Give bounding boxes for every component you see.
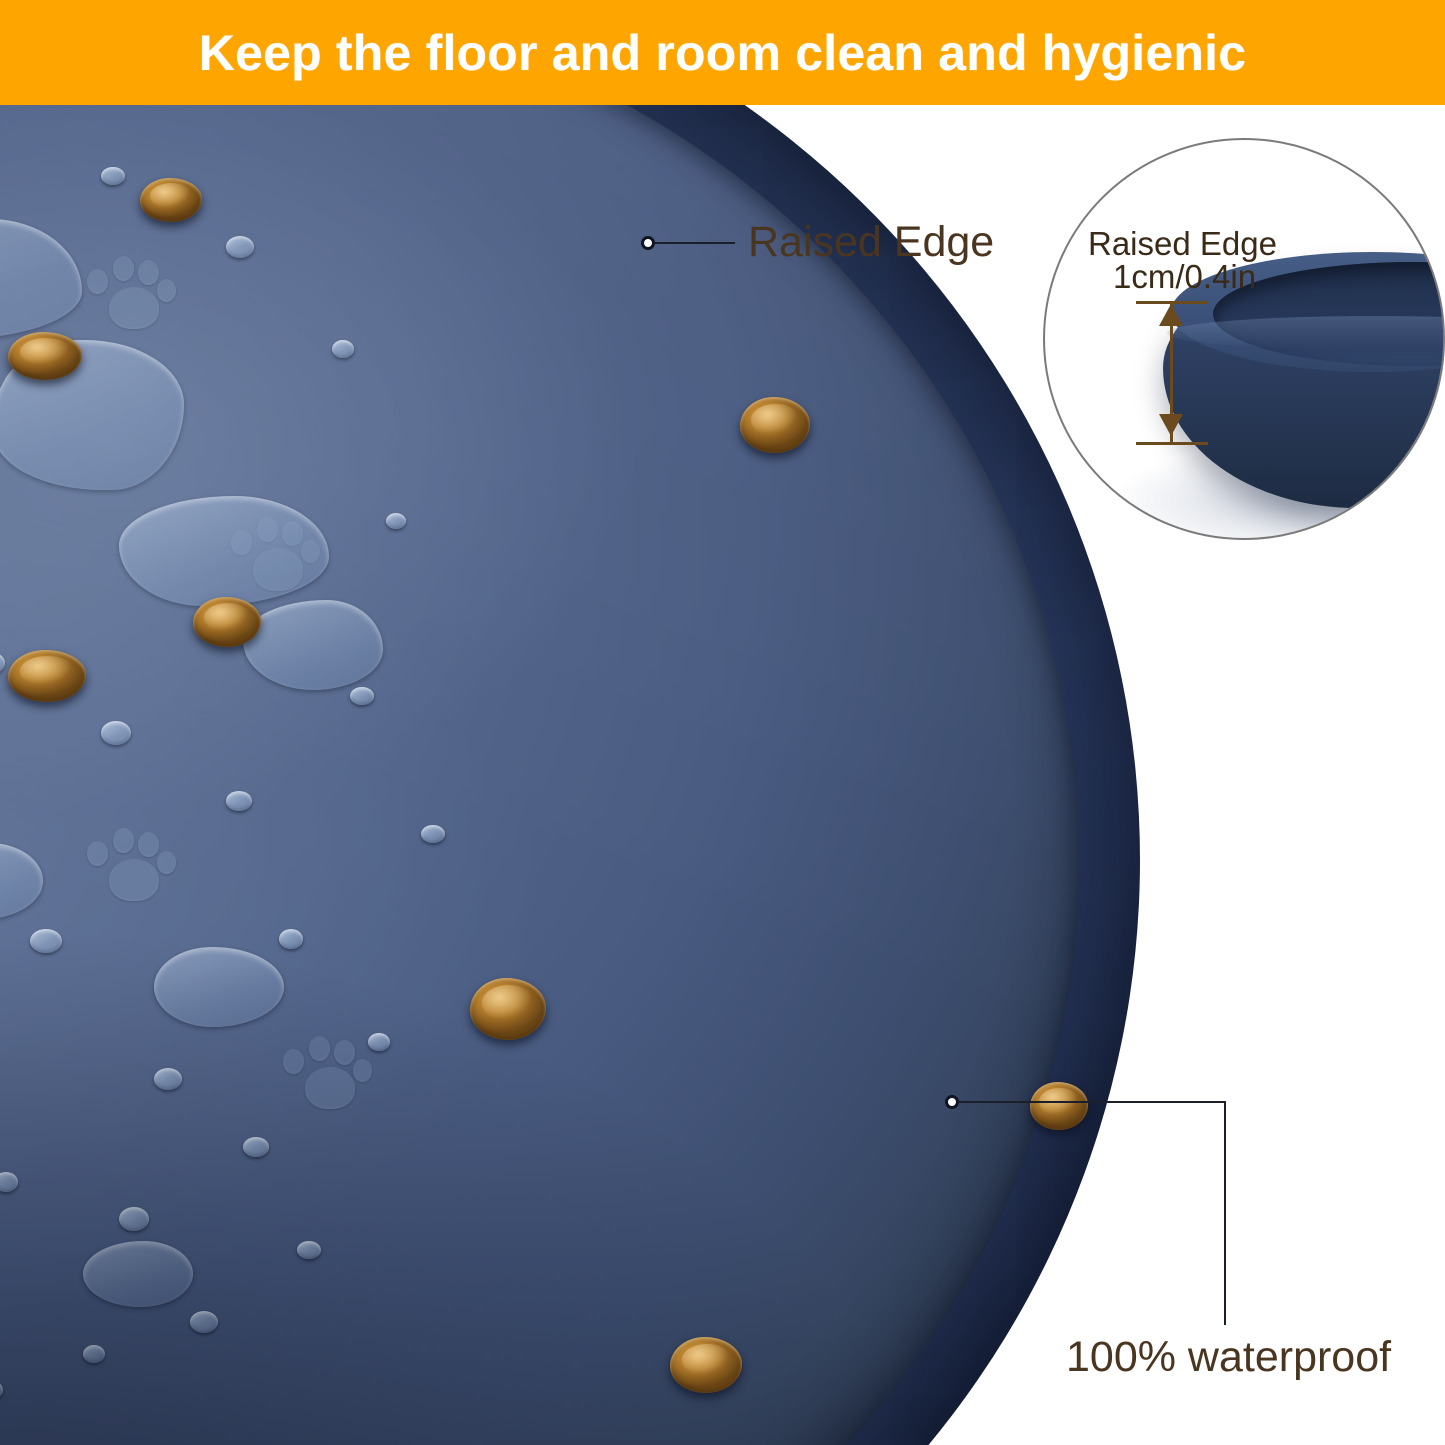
raised-edge-dimension-arrow (1126, 296, 1218, 450)
water-droplet (279, 929, 303, 949)
water-puddle (83, 1241, 193, 1307)
inset-label-line-2: 1cm/0.4in (1113, 258, 1256, 296)
kibble-piece (470, 978, 546, 1040)
headline-text: Keep the floor and room clean and hygien… (199, 24, 1246, 82)
water-droplet (0, 1172, 18, 1192)
kibble-piece (140, 178, 202, 222)
water-droplet (386, 513, 406, 529)
water-droplet (154, 1068, 182, 1090)
water-droplet (0, 1380, 3, 1400)
water-droplet (350, 687, 374, 705)
kibble-piece (8, 650, 86, 702)
raised-edge-marker-dot (641, 236, 655, 250)
waterproof-leader-vertical (1224, 1101, 1226, 1325)
mat-basin (0, 105, 1079, 1445)
raised-edge-callout-label: Raised Edge (748, 218, 994, 267)
raised-edge-detail-inset (1043, 138, 1445, 540)
raised-edge-leader-line (654, 242, 735, 244)
kibble-piece (8, 332, 82, 380)
water-droplet (83, 1345, 105, 1363)
water-droplet (101, 721, 131, 745)
product-marketing-image: Keep the floor and room clean and hygien… (0, 0, 1445, 1445)
water-droplet (297, 1241, 321, 1259)
water-droplet (368, 1033, 390, 1051)
water-puddle (243, 600, 383, 690)
water-droplet (243, 1137, 269, 1157)
waterproof-leader-horizontal (958, 1101, 1226, 1103)
water-droplet (226, 791, 252, 811)
water-droplet (0, 652, 5, 674)
mat-raised-rim (0, 105, 1140, 1445)
waterproof-marker-dot (945, 1095, 959, 1109)
water-puddle (0, 219, 82, 339)
water-droplet (119, 1207, 149, 1231)
water-puddle (154, 947, 284, 1027)
kibble-piece (740, 397, 810, 453)
water-droplet (421, 825, 445, 843)
water-puddle (0, 843, 43, 919)
dimension-arrowhead-down (1159, 414, 1183, 436)
headline-banner: Keep the floor and room clean and hygien… (0, 0, 1445, 105)
water-droplet (226, 236, 254, 258)
pet-feeding-mat (0, 105, 1140, 1445)
paw-print-emboss (83, 253, 169, 345)
kibble-piece (1030, 1082, 1088, 1130)
paw-print-emboss (83, 825, 169, 917)
water-droplet (101, 167, 125, 185)
paw-print-emboss (279, 1033, 365, 1125)
kibble-piece (670, 1337, 742, 1393)
water-droplet (190, 1311, 218, 1333)
waterproof-callout-label: 100% waterproof (1066, 1333, 1391, 1382)
water-droplet (30, 929, 62, 953)
water-droplet (332, 340, 354, 358)
kibble-piece (193, 597, 261, 647)
dimension-arrowhead-up (1159, 304, 1183, 326)
